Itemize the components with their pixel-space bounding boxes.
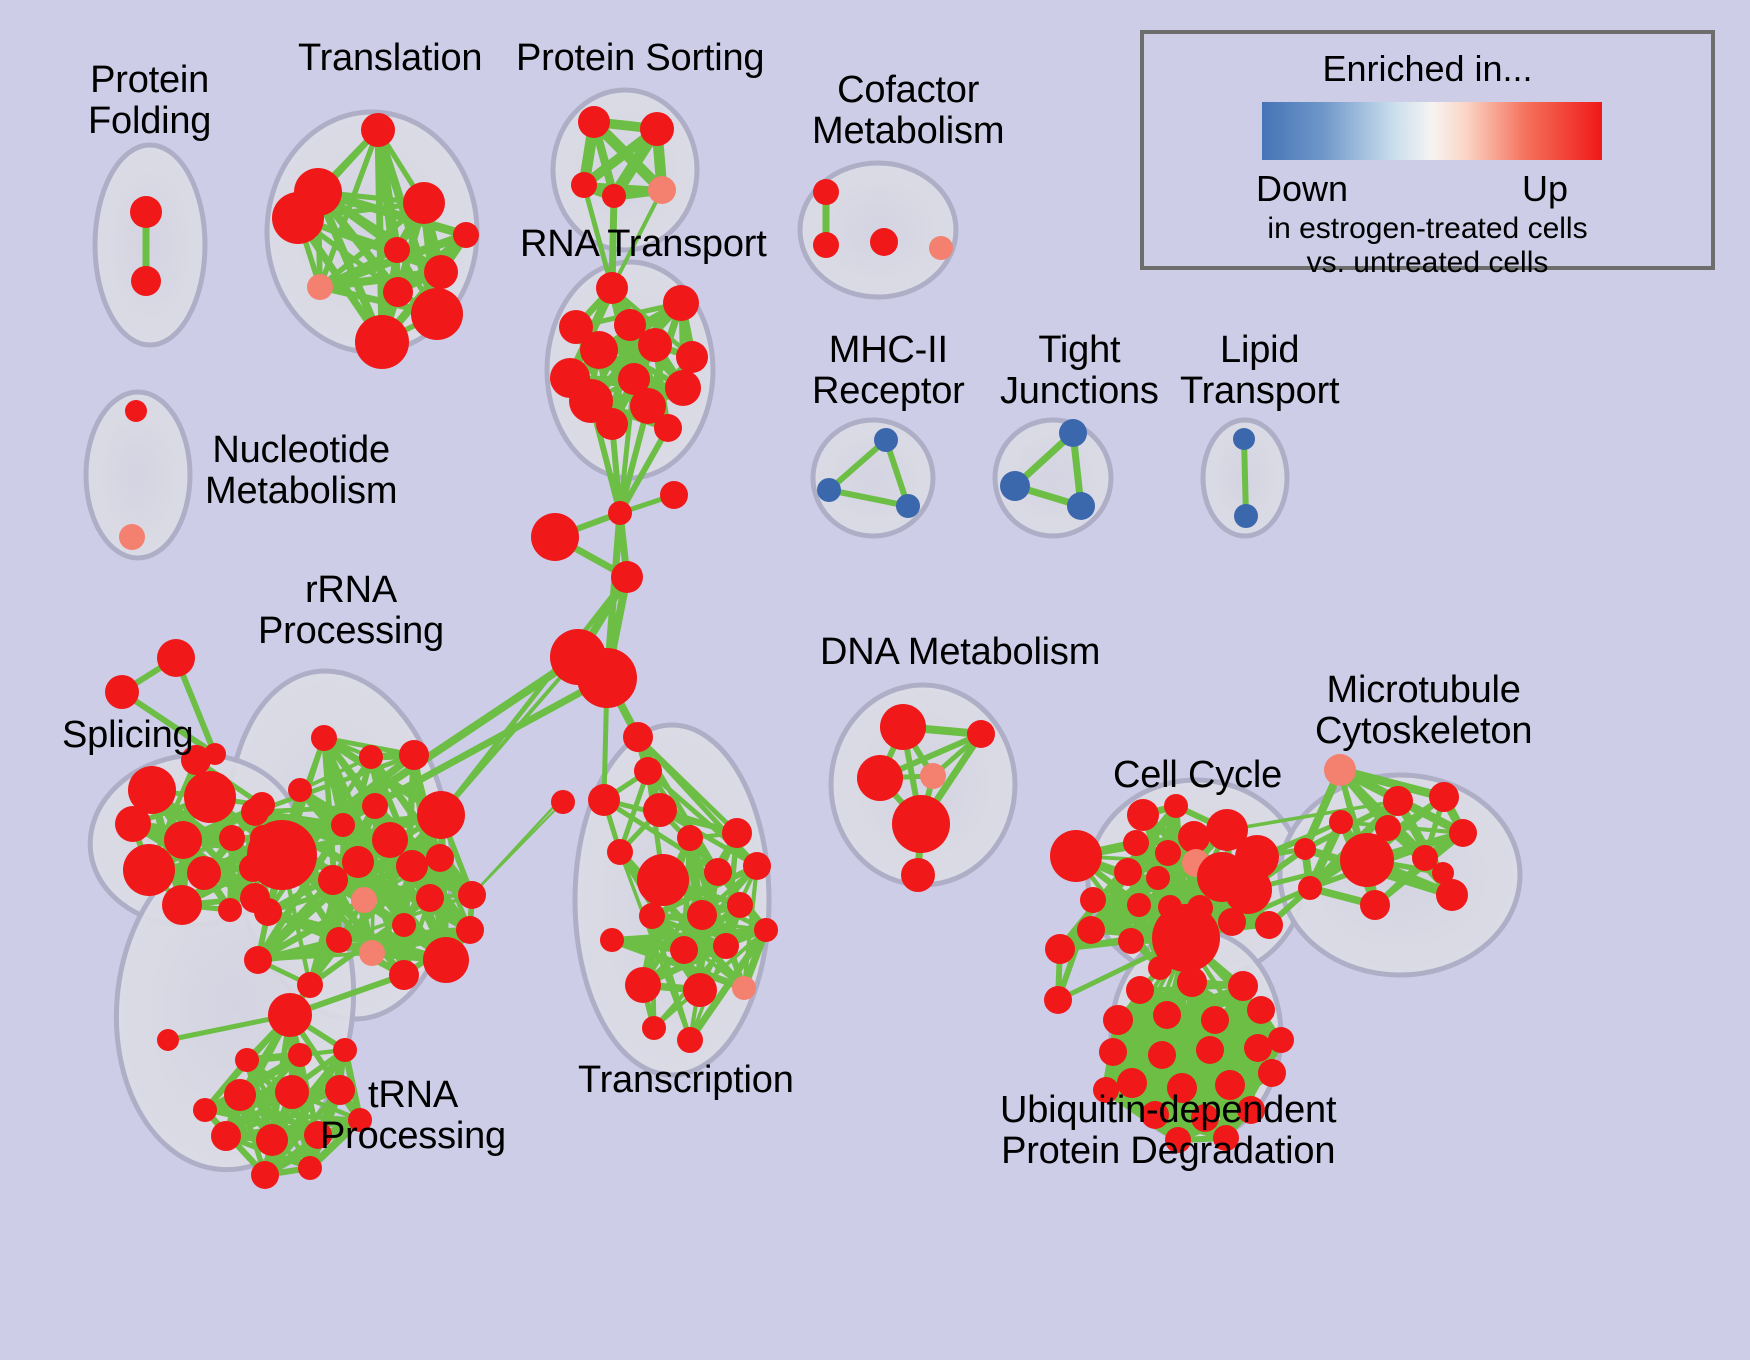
network-node (362, 793, 388, 819)
network-node (1000, 471, 1030, 501)
network-node (1258, 1059, 1286, 1087)
network-node (119, 524, 145, 550)
network-node (123, 844, 175, 896)
network-node (372, 822, 408, 858)
network-node (1077, 916, 1105, 944)
network-node (642, 1016, 666, 1040)
network-node (967, 720, 995, 748)
cluster-label-microtubule-cytoskeleton: Microtubule Cytoskeleton (1315, 670, 1532, 752)
network-node (1126, 976, 1154, 1004)
network-node (256, 1124, 288, 1156)
network-node (722, 818, 752, 848)
legend-title: Enriched in... (1144, 48, 1711, 90)
network-node (1127, 799, 1159, 831)
network-node (247, 820, 317, 890)
cluster-label-nucleotide-metabolism: Nucleotide Metabolism (205, 430, 397, 512)
enrichment-map: Protein FoldingTranslationProtein Sortin… (0, 0, 1750, 1360)
network-node (1164, 794, 1188, 818)
network-node (204, 743, 226, 765)
network-node (874, 428, 898, 452)
legend-colorbar (1262, 102, 1602, 160)
network-edge (472, 802, 563, 895)
legend-down-label: Down (1256, 168, 1348, 210)
network-node (608, 501, 632, 525)
network-node (1178, 821, 1210, 853)
network-node (458, 881, 486, 909)
network-node (1360, 890, 1390, 920)
cluster-label-translation: Translation (298, 38, 482, 79)
network-node (1118, 928, 1144, 954)
network-node (1244, 1034, 1272, 1062)
network-node (743, 852, 771, 880)
network-node (687, 900, 717, 930)
network-node (920, 763, 946, 789)
network-node (184, 771, 236, 823)
network-node (813, 179, 839, 205)
network-node (580, 331, 618, 369)
network-node (892, 795, 950, 853)
cluster-label-transcription: Transcription (578, 1060, 794, 1101)
cluster-label-protein-sorting: Protein Sorting (516, 38, 764, 79)
network-node (298, 1156, 322, 1180)
network-node (1436, 879, 1468, 911)
cluster-halo-protein-folding (95, 145, 205, 345)
network-node (1155, 840, 1181, 866)
network-node (1340, 833, 1394, 887)
network-node (1044, 986, 1072, 1014)
network-node (1294, 838, 1316, 860)
network-node (896, 494, 920, 518)
network-node (268, 993, 312, 1037)
network-node (417, 791, 465, 839)
network-node (288, 1043, 312, 1067)
network-node (396, 850, 428, 882)
network-node (157, 639, 195, 677)
network-node (1383, 786, 1413, 816)
network-node (665, 370, 701, 406)
network-node (164, 821, 202, 859)
network-node (1050, 830, 1102, 882)
network-node (639, 903, 665, 929)
network-node (640, 112, 674, 146)
legend-box: Enriched in... Down Up in estrogen-treat… (1140, 30, 1715, 270)
network-node (1148, 1041, 1176, 1069)
network-node (359, 940, 385, 966)
network-node (670, 936, 698, 964)
network-node (578, 106, 610, 138)
cluster-label-cell-cycle: Cell Cycle (1113, 755, 1282, 796)
network-node (311, 725, 337, 751)
legend-subtitle-line2: vs. untreated cells (1144, 246, 1711, 280)
network-node (531, 513, 579, 561)
network-node (880, 704, 926, 750)
network-node (355, 315, 409, 369)
network-node (275, 1075, 309, 1109)
legend-subtitle-line1: in estrogen-treated cells (1144, 212, 1711, 246)
network-node (1234, 504, 1258, 528)
network-node (105, 675, 139, 709)
cluster-label-dna-metabolism: DNA Metabolism (820, 632, 1100, 673)
network-node (389, 960, 419, 990)
network-node (416, 884, 444, 912)
network-node (754, 918, 778, 942)
network-node (1449, 819, 1477, 847)
network-node (125, 400, 147, 422)
network-node (235, 1048, 259, 1072)
network-node (359, 745, 383, 769)
network-node (1218, 908, 1246, 936)
network-node (704, 858, 732, 886)
cluster-label-rna-transport: RNA Transport (520, 224, 767, 265)
network-node (193, 1098, 217, 1122)
network-node (648, 176, 676, 204)
network-node (1059, 419, 1087, 447)
network-node (1114, 858, 1142, 886)
network-node (1224, 866, 1272, 914)
network-node (817, 478, 841, 502)
network-node (218, 898, 242, 922)
network-node (1153, 1001, 1181, 1029)
network-node (577, 648, 637, 708)
network-node (1067, 492, 1095, 520)
network-node (677, 825, 703, 851)
network-node (607, 839, 633, 865)
cluster-label-cofactor-metabolism: Cofactor Metabolism (812, 70, 1004, 152)
network-node (638, 328, 672, 362)
network-node (351, 887, 377, 913)
network-node (596, 272, 628, 304)
network-node (1080, 887, 1106, 913)
network-node (901, 858, 935, 892)
network-node (403, 182, 445, 224)
network-node (1196, 1036, 1224, 1064)
network-node (929, 236, 953, 260)
network-node (342, 846, 374, 878)
network-node (157, 1029, 179, 1051)
network-node (187, 856, 221, 890)
network-node (1045, 934, 1075, 964)
cluster-label-ubiquitin-protein-degradation: Ubiquitin-dependent Protein Degradation (1000, 1090, 1336, 1172)
network-node (677, 1027, 703, 1053)
network-node (727, 892, 753, 918)
network-node (1429, 782, 1459, 812)
cluster-label-rrna-processing: rRNA Processing (258, 570, 444, 652)
network-node (453, 222, 479, 248)
network-node (1247, 996, 1275, 1024)
network-node (596, 408, 628, 440)
network-node (1324, 754, 1356, 786)
network-node (241, 798, 269, 826)
network-node (634, 757, 662, 785)
network-node (713, 933, 739, 959)
network-node (1099, 1038, 1127, 1066)
network-node (115, 806, 151, 842)
network-node (326, 927, 352, 953)
network-node (623, 722, 653, 752)
cluster-label-protein-folding: Protein Folding (88, 60, 211, 142)
network-node (600, 928, 624, 952)
network-node (870, 228, 898, 256)
network-node (333, 1038, 357, 1062)
network-node (297, 972, 323, 998)
network-node (130, 196, 162, 228)
legend-up-label: Up (1522, 168, 1568, 210)
network-node (676, 341, 708, 373)
cluster-halo-mhc-ii-receptor (813, 420, 933, 536)
network-node (1268, 1027, 1294, 1053)
network-node (1103, 1005, 1133, 1035)
cluster-label-trna-processing: tRNA Processing (320, 1075, 506, 1157)
network-node (456, 916, 484, 944)
network-node (254, 898, 282, 926)
network-node (1148, 956, 1172, 980)
network-node (588, 784, 620, 816)
network-node (625, 967, 661, 1003)
network-node (602, 184, 626, 208)
network-node (331, 813, 355, 837)
network-node (660, 481, 688, 509)
network-node (272, 192, 324, 244)
network-node (611, 561, 643, 593)
network-node (683, 973, 717, 1007)
network-node (1329, 810, 1353, 834)
network-node (1228, 971, 1258, 1001)
network-node (318, 865, 348, 895)
cluster-label-lipid-transport: Lipid Transport (1180, 330, 1339, 412)
network-node (1233, 428, 1255, 450)
cluster-label-tight-junctions: Tight Junctions (1000, 330, 1159, 412)
network-node (1255, 911, 1283, 939)
network-node (637, 854, 689, 906)
network-node (663, 285, 699, 321)
network-node (162, 885, 202, 925)
network-node (288, 778, 312, 802)
network-node (384, 237, 410, 263)
network-node (392, 913, 416, 937)
network-node (244, 946, 272, 974)
network-node (307, 274, 333, 300)
network-node (423, 937, 469, 983)
network-node (857, 755, 903, 801)
network-node (1146, 866, 1170, 890)
cluster-label-splicing: Splicing (62, 715, 193, 756)
network-node (1127, 893, 1151, 917)
network-node (361, 113, 395, 147)
network-node (211, 1121, 241, 1151)
network-node (424, 255, 458, 289)
network-node (426, 844, 454, 872)
network-node (131, 266, 161, 296)
network-node (551, 790, 575, 814)
network-node (224, 1079, 256, 1111)
network-node (251, 1161, 279, 1189)
network-node (813, 232, 839, 258)
network-node (383, 277, 413, 307)
network-node (571, 172, 597, 198)
network-node (399, 740, 429, 770)
network-node (411, 288, 463, 340)
network-node (1177, 967, 1207, 997)
network-node (219, 825, 245, 851)
network-node (654, 414, 682, 442)
network-node (643, 793, 677, 827)
cluster-label-mhc-ii-receptor: MHC-II Receptor (812, 330, 965, 412)
network-node (732, 976, 756, 1000)
network-node (1201, 1006, 1229, 1034)
network-node (1298, 876, 1322, 900)
network-node (1123, 830, 1149, 856)
